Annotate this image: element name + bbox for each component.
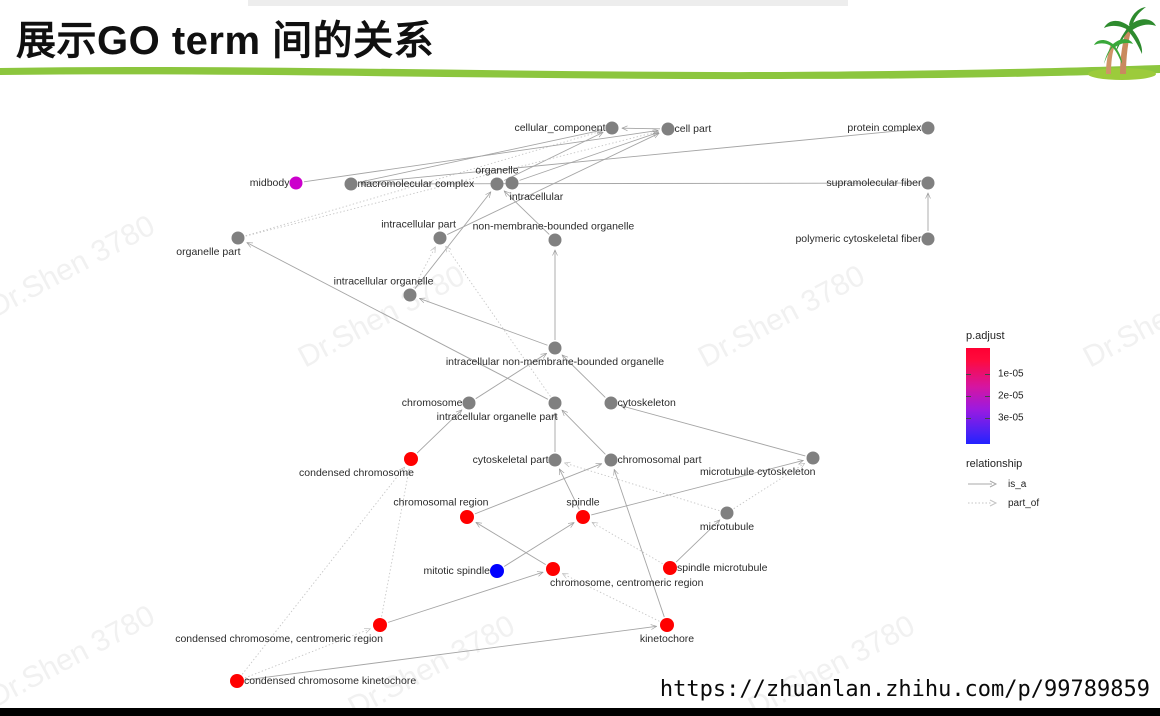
graph-node-label: microtubule [700, 522, 754, 533]
graph-node[interactable] [290, 177, 303, 190]
graph-node[interactable] [549, 454, 562, 467]
bottom-bar [0, 708, 1160, 716]
graph-node[interactable] [506, 177, 519, 190]
graph-node-label: cell part [675, 124, 712, 135]
network-edge [621, 406, 806, 456]
graph-node-label: condensed chromosome kinetochore [244, 676, 416, 687]
graph-node[interactable] [922, 233, 935, 246]
graph-node[interactable] [721, 507, 734, 520]
graph-node-label: cellular_component [514, 123, 605, 134]
legend-relationship-title: relationship [966, 458, 1096, 470]
graph-node[interactable] [546, 562, 560, 576]
graph-node-label: macromolecular complex [358, 179, 475, 190]
graph-node-label: condensed chromosome [299, 468, 414, 479]
graph-node[interactable] [922, 177, 935, 190]
graph-node[interactable] [373, 618, 387, 632]
dotted-arrow-icon [966, 497, 1000, 509]
graph-node[interactable] [404, 452, 418, 466]
graph-node-label: cytoskeletal part [473, 455, 549, 466]
colorbar-tick-label: 2e-05 [998, 391, 1024, 402]
graph-node-label: chromosomal region [393, 498, 488, 509]
legend-panel: p.adjust 1e-05 2e-05 3e-05 relationship … [966, 330, 1096, 514]
graph-node[interactable] [549, 234, 562, 247]
network-edge [361, 129, 920, 183]
network-edge [446, 246, 551, 396]
network-edge [388, 572, 543, 622]
legend-padjust-title: p.adjust [966, 330, 1096, 342]
graph-node-label: organelle part [176, 247, 240, 258]
network-edge [622, 128, 660, 129]
legend-item-is-a: is_a [966, 476, 1096, 492]
graph-node[interactable] [807, 452, 820, 465]
slide-canvas: 展示GO term 间的关系 Dr.Shen 3780 Dr.Shen 3780… [0, 0, 1160, 716]
network-edge [476, 522, 546, 564]
graph-node-label: mitotic spindle [423, 566, 490, 577]
graph-node-label: protein complex [847, 123, 921, 134]
top-accent-band [248, 0, 848, 6]
graph-node-label: supramolecular fiber [826, 178, 921, 189]
graph-node-label: midbody [250, 178, 290, 189]
network-edge [562, 410, 605, 454]
graph-node[interactable] [463, 397, 476, 410]
graph-node[interactable] [232, 232, 245, 245]
graph-node[interactable] [660, 618, 674, 632]
network-edge [247, 243, 548, 400]
graph-node-label: microtubule cytoskeleton [700, 467, 816, 478]
graph-node[interactable] [663, 561, 677, 575]
graph-node[interactable] [345, 178, 358, 191]
network-edge [504, 523, 574, 567]
graph-node-label: polymeric cytoskeletal fiber [795, 234, 921, 245]
network-edge [382, 469, 410, 616]
graph-node-label: intracellular organelle part [437, 412, 558, 423]
legend-item-part-of: part_of [966, 495, 1096, 511]
graph-node-label: chromosome [402, 398, 463, 409]
graph-node[interactable] [490, 564, 504, 578]
graph-node[interactable] [605, 454, 618, 467]
legend-label-is-a: is_a [1008, 479, 1026, 490]
graph-node-label: intracellular non-membrane-bounded organ… [446, 357, 664, 368]
graph-node[interactable] [230, 674, 244, 688]
graph-node-label: spindle [566, 498, 599, 509]
graph-node-label: condensed chromosome, centromeric region [175, 634, 383, 645]
graph-node[interactable] [549, 397, 562, 410]
colorbar-tick-label: 3e-05 [998, 413, 1024, 424]
graph-node[interactable] [460, 510, 474, 524]
graph-node-label: kinetochore [640, 634, 694, 645]
padjust-colorbar: 1e-05 2e-05 3e-05 [966, 348, 1086, 444]
colorbar-tick-label: 1e-05 [998, 369, 1024, 380]
graph-node[interactable] [404, 289, 417, 302]
graph-node[interactable] [922, 122, 935, 135]
palm-tree-icon [1050, 0, 1160, 90]
graph-node-label: chromosomal part [618, 455, 702, 466]
graph-node-label: intracellular organelle [334, 276, 434, 287]
graph-node[interactable] [434, 232, 447, 245]
graph-node-label: spindle microtubule [677, 563, 767, 574]
graph-node[interactable] [549, 342, 562, 355]
graph-node-label: non-membrane-bounded organelle [473, 221, 635, 232]
graph-node[interactable] [606, 122, 619, 135]
graph-node[interactable] [662, 123, 675, 136]
network-edge [419, 298, 547, 345]
graph-node[interactable] [576, 510, 590, 524]
graph-node[interactable] [491, 178, 504, 191]
graph-node[interactable] [605, 397, 618, 410]
source-url: https://zhuanlan.zhihu.com/p/99789859 [660, 677, 1150, 702]
legend-label-part-of: part_of [1008, 498, 1039, 509]
network-edge [592, 522, 663, 563]
graph-node-label: chromosome, centromeric region [550, 578, 703, 589]
graph-node-label: organelle [475, 165, 518, 176]
green-wave-divider [0, 52, 1160, 80]
graph-node-label: intracellular [510, 192, 564, 203]
graph-node-label: intracellular part [381, 219, 456, 230]
solid-arrow-icon [966, 478, 1000, 490]
graph-node-label: cytoskeleton [618, 398, 676, 409]
